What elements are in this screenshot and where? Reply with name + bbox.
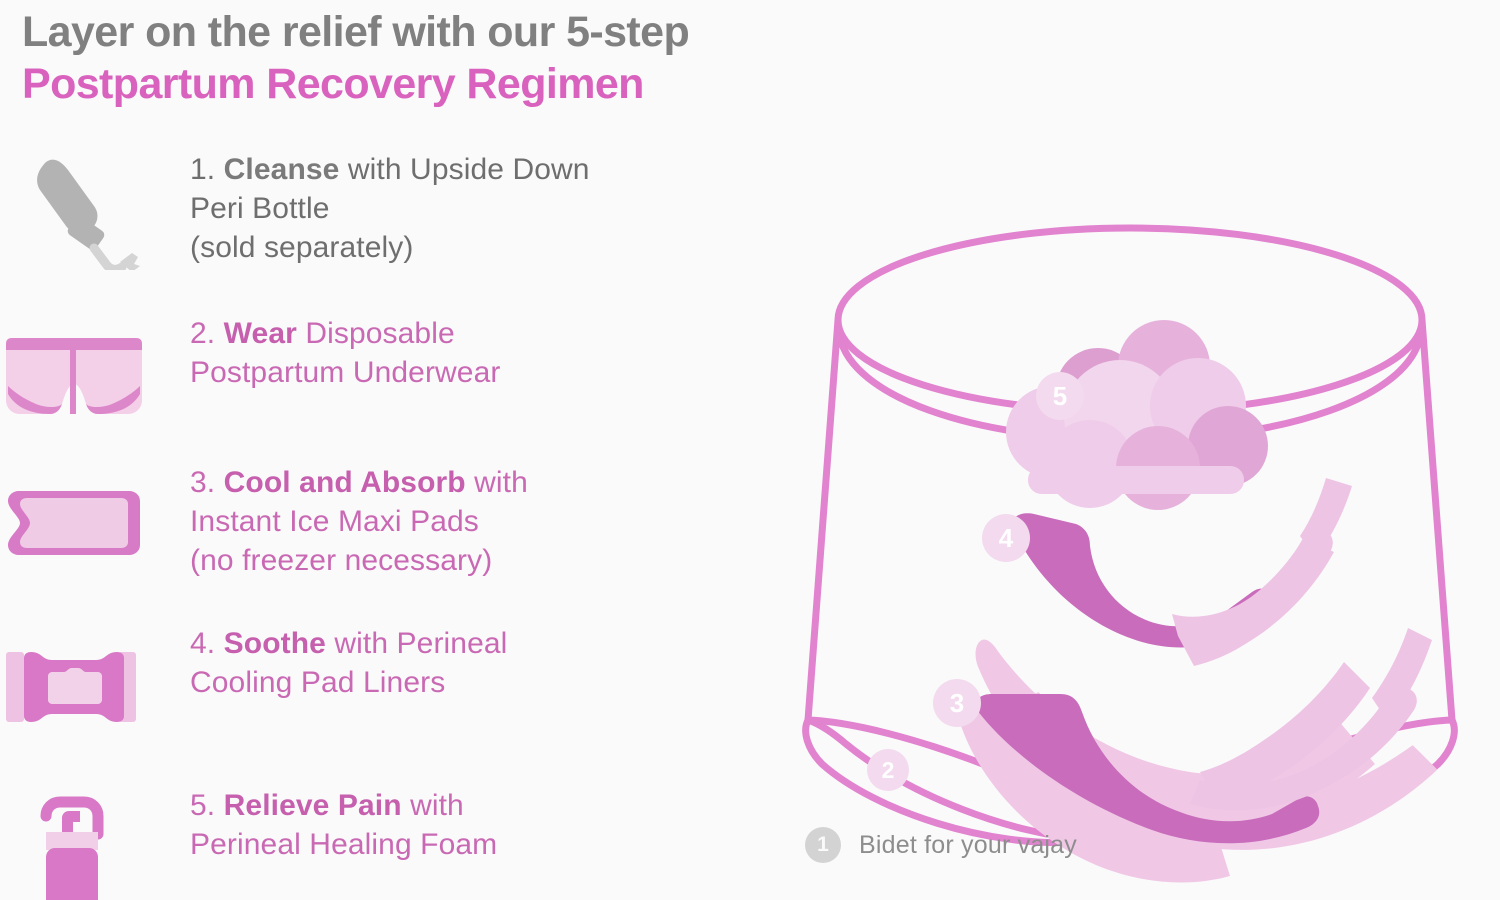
list-item: 1. Cleanse with Upside Down Peri Bottle …	[0, 150, 740, 270]
step-keyword: Relieve Pain	[224, 789, 402, 822]
list-item: 5. Relieve Pain with Perineal Healing Fo…	[0, 786, 740, 900]
list-item: 3. Cool and Absorb with Instant Ice Maxi…	[0, 463, 740, 583]
step-text: 5. Relieve Pain with Perineal Healing Fo…	[190, 786, 730, 864]
badge-2: 2	[867, 749, 909, 791]
peri-bottle-icon	[0, 150, 180, 270]
badge-5: 5	[1036, 372, 1084, 420]
caption-text: Bidet for your vajay	[859, 831, 1077, 860]
badge-4: 4	[982, 514, 1030, 562]
foam-bottle-icon	[0, 786, 180, 900]
page-title: Layer on the relief with our 5-step Post…	[22, 6, 922, 110]
step-keyword: Cool and Absorb	[224, 466, 466, 499]
step-text: 2. Wear Disposable Postpartum Underwear	[190, 314, 730, 392]
step-number: 2.	[190, 317, 215, 350]
step-number: 4.	[190, 627, 215, 660]
step-line-2: Perineal Healing Foam	[190, 825, 730, 864]
steps-list: 1. Cleanse with Upside Down Peri Bottle …	[0, 150, 740, 870]
pad-liner-pack-icon	[0, 624, 180, 744]
step-rest: with Upside Down	[339, 153, 589, 186]
step-line-2: Peri Bottle	[190, 189, 730, 228]
step-number: 1.	[190, 153, 215, 186]
layered-underwear-diagram: 5 4 3 2	[760, 200, 1500, 900]
step-line-3: (sold separately)	[190, 228, 730, 267]
svg-text:2: 2	[882, 757, 895, 783]
list-item: 2. Wear Disposable Postpartum Underwear	[0, 314, 740, 434]
step-text: 1. Cleanse with Upside Down Peri Bottle …	[190, 150, 730, 267]
headline-line-2: Postpartum Recovery Regimen	[22, 58, 922, 110]
step-number: 3.	[190, 466, 215, 499]
disposable-underwear-icon	[0, 314, 180, 434]
step-text: 4. Soothe with Perineal Cooling Pad Line…	[190, 624, 730, 702]
step-line-3: (no freezer necessary)	[190, 541, 730, 580]
maxi-pad-icon	[0, 463, 180, 583]
step-keyword: Wear	[224, 317, 297, 350]
step-rest: with Perineal	[326, 627, 508, 660]
caption-badge-1: 1	[805, 827, 841, 863]
step-rest: with	[466, 466, 528, 499]
svg-text:4: 4	[999, 523, 1014, 553]
svg-text:3: 3	[950, 688, 964, 718]
step-line-2: Instant Ice Maxi Pads	[190, 502, 730, 541]
step-rest: Disposable	[297, 317, 455, 350]
svg-text:5: 5	[1053, 381, 1067, 411]
step-text: 3. Cool and Absorb with Instant Ice Maxi…	[190, 463, 730, 580]
step-keyword: Soothe	[224, 627, 326, 660]
step-line-2: Cooling Pad Liners	[190, 663, 730, 702]
healing-foam-layer	[1006, 320, 1268, 510]
step-keyword: Cleanse	[224, 153, 340, 186]
step-number: 5.	[190, 789, 215, 822]
list-item: 4. Soothe with Perineal Cooling Pad Line…	[0, 624, 740, 744]
cooling-pad-liner-layer	[1010, 478, 1352, 666]
step-rest: with	[402, 789, 464, 822]
headline-line-1: Layer on the relief with our 5-step	[22, 6, 922, 58]
badge-3: 3	[933, 679, 981, 727]
step-line-2: Postpartum Underwear	[190, 353, 730, 392]
diagram-caption: 1 Bidet for your vajay	[805, 827, 1077, 863]
infographic-page: Layer on the relief with our 5-step Post…	[0, 0, 1500, 900]
